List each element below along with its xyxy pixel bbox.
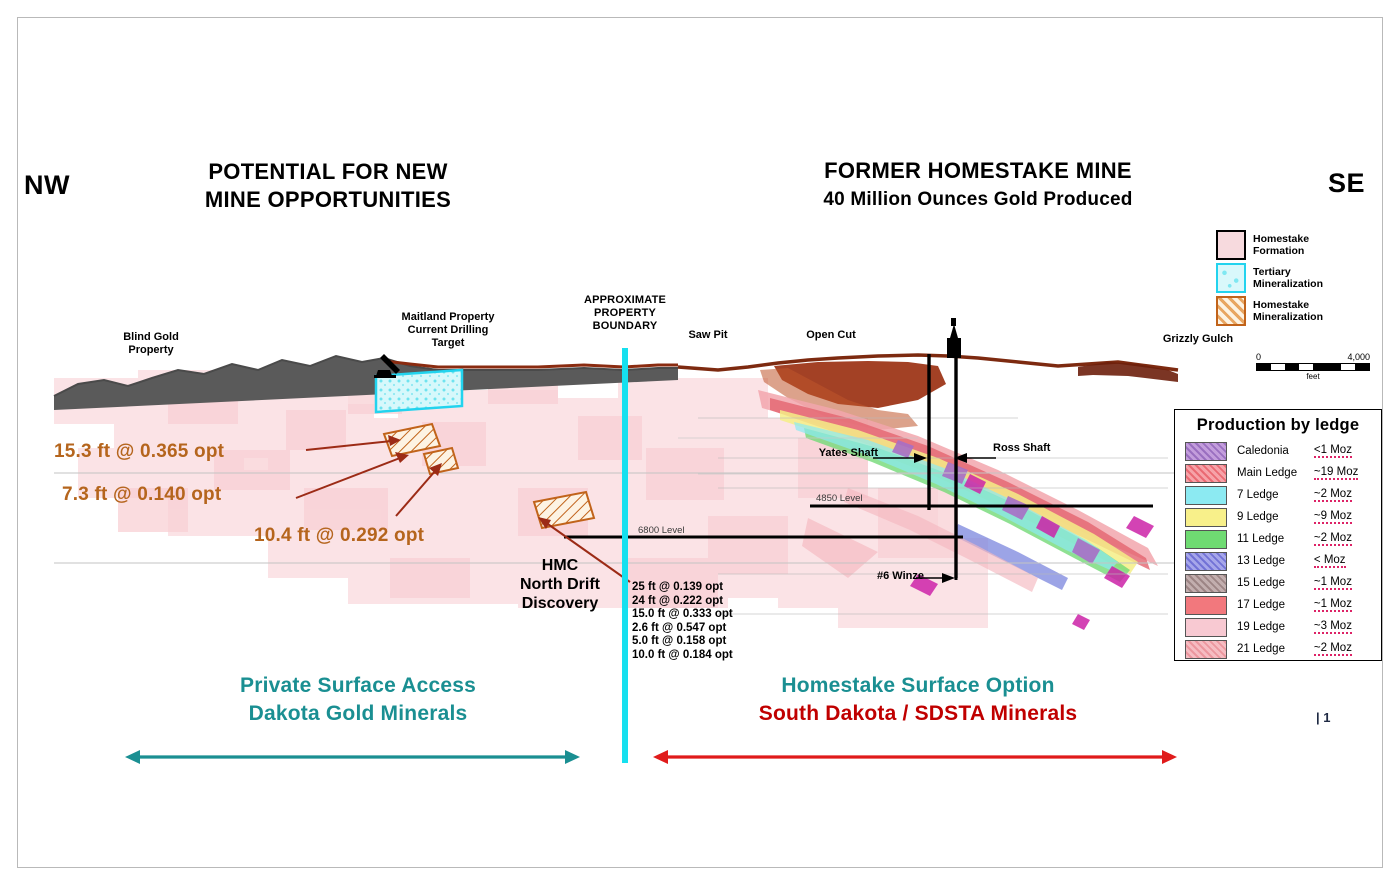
banner-right-line2: South Dakota / SDSTA Minerals — [638, 702, 1198, 726]
formation-legend-label: Homestake — [1253, 233, 1309, 245]
production-ledge-amount: ~2 Moz — [1314, 642, 1352, 656]
label-6800-level: 6800 Level — [638, 525, 684, 536]
production-ledge-amount: ~9 Moz — [1314, 510, 1352, 524]
label-ross-shaft: Ross Shaft — [993, 442, 1093, 455]
production-row: 15 Ledge ~1 Moz — [1175, 572, 1381, 594]
formation-legend-row: Homestake Mineralization — [1216, 296, 1323, 326]
formation-legend-label: Homestake — [1253, 299, 1323, 311]
label-maitland-property: Maitland Property Current Drilling Targe… — [368, 311, 528, 350]
compass-nw: NW — [24, 170, 70, 201]
production-ledge-name: 9 Ledge — [1237, 506, 1314, 528]
label-4850-level: 4850 Level — [816, 493, 862, 504]
formation-legend-label: Tertiary — [1253, 266, 1323, 278]
banner-left-line1: Private Surface Access — [128, 674, 588, 698]
swatch-homestake-mineralization — [1216, 296, 1246, 326]
heading-left-line1: POTENTIAL FOR NEW — [158, 158, 498, 186]
production-swatch — [1185, 486, 1227, 505]
sdsta-minerals-arrow — [653, 750, 1177, 764]
production-ledge-name: 13 Ledge — [1237, 550, 1314, 572]
label-saw-pit: Saw Pit — [663, 329, 753, 342]
slide-canvas: NW SE POTENTIAL FOR NEW MINE OPPORTUNITI… — [0, 0, 1400, 885]
production-swatch — [1185, 618, 1227, 637]
production-ledge-amount: ~2 Moz — [1314, 488, 1352, 502]
hmc-line2: North Drift — [492, 575, 628, 594]
production-row: 11 Ledge ~2 Moz — [1175, 528, 1381, 550]
blind-gold-line1: Blind Gold — [96, 331, 206, 344]
grizzly-gulch-band — [1078, 362, 1178, 382]
hmc-line3: Discovery — [492, 594, 628, 613]
production-ledge-amount: ~3 Moz — [1314, 620, 1352, 634]
hmc-discovery-label: HMC North Drift Discovery — [492, 556, 628, 613]
page-number: | 1 — [1316, 710, 1330, 725]
blind-gold-line2: Property — [96, 344, 206, 357]
production-ledge-amount: < Moz — [1314, 554, 1346, 568]
banner-private-surface-access: Private Surface Access Dakota Gold Miner… — [128, 674, 588, 726]
production-row: Main Ledge ~19 Moz — [1175, 462, 1381, 484]
production-legend-title: Production by ledge — [1175, 410, 1381, 440]
scale-unit-label: feet — [1256, 372, 1370, 381]
scale-bar: 0 4,000 feet — [1256, 352, 1370, 381]
hmc-results-list: 25 ft @ 0.139 opt 24 ft @ 0.222 opt 15.0… — [632, 581, 733, 663]
label-yates-shaft: Yates Shaft — [788, 447, 878, 460]
production-by-ledge-legend: Production by ledge Caledonia <1 Moz Mai… — [1174, 409, 1382, 661]
label-6-winze: #6 Winze — [844, 570, 924, 583]
production-ledge-amount: ~2 Moz — [1314, 532, 1352, 546]
production-row: 17 Ledge ~1 Moz — [1175, 594, 1381, 616]
heading-left-line2: MINE OPPORTUNITIES — [158, 186, 498, 214]
production-ledge-name: 7 Ledge — [1237, 484, 1314, 506]
label-approximate-property-boundary: APPROXIMATE PROPERTY BOUNDARY — [555, 294, 695, 333]
production-swatch — [1185, 640, 1227, 659]
mineralization-block-2 — [424, 448, 458, 474]
production-ledge-amount: ~1 Moz — [1314, 576, 1352, 590]
heading-right: FORMER HOMESTAKE MINE 40 Million Ounces … — [758, 158, 1198, 211]
production-swatch — [1185, 552, 1227, 571]
production-swatch — [1185, 596, 1227, 615]
production-row: 13 Ledge < Moz — [1175, 550, 1381, 572]
heading-right-line1: FORMER HOMESTAKE MINE — [758, 158, 1198, 184]
hmc-result: 10.0 ft @ 0.184 opt — [632, 649, 733, 663]
production-table: Caledonia <1 Moz Main Ledge ~19 Moz 7 Le… — [1175, 440, 1381, 660]
maitland-line2: Current Drilling — [368, 324, 528, 337]
banner-left-line2: Dakota Gold Minerals — [128, 702, 588, 726]
swatch-tertiary-mineralization — [1216, 263, 1246, 293]
production-swatch — [1185, 530, 1227, 549]
production-row: 7 Ledge ~2 Moz — [1175, 484, 1381, 506]
production-ledge-name: Caledonia — [1237, 440, 1314, 462]
hmc-line1: HMC — [492, 556, 628, 575]
formation-legend-label: Mineralization — [1253, 278, 1323, 290]
hmc-result: 5.0 ft @ 0.158 opt — [632, 635, 733, 649]
label-grizzly-gulch: Grizzly Gulch — [1128, 333, 1268, 346]
intercept-callout-2: 7.3 ft @ 0.140 opt — [62, 484, 221, 506]
intercept-callout-3: 10.4 ft @ 0.292 opt — [254, 525, 424, 547]
production-ledge-name: 19 Ledge — [1237, 616, 1314, 638]
production-ledge-name: 15 Ledge — [1237, 572, 1314, 594]
headframe-icon — [947, 318, 961, 358]
hmc-result: 15.0 ft @ 0.333 opt — [632, 608, 733, 622]
production-ledge-amount: <1 Moz — [1314, 444, 1352, 458]
production-swatch — [1185, 442, 1227, 461]
formation-legend-row: Tertiary Mineralization — [1216, 263, 1323, 293]
production-ledge-amount: ~1 Moz — [1314, 598, 1352, 612]
hmc-result: 2.6 ft @ 0.547 opt — [632, 622, 733, 636]
production-row: Caledonia <1 Moz — [1175, 440, 1381, 462]
private-access-arrow — [125, 750, 580, 764]
heading-right-line2: 40 Million Ounces Gold Produced — [758, 189, 1198, 211]
scale-min-label: 0 — [1256, 352, 1261, 362]
scale-max-label: 4,000 — [1347, 352, 1370, 362]
production-ledge-name: 11 Ledge — [1237, 528, 1314, 550]
label-open-cut: Open Cut — [776, 329, 886, 342]
maitland-line1: Maitland Property — [368, 311, 528, 324]
slide-frame: NW SE POTENTIAL FOR NEW MINE OPPORTUNITI… — [17, 17, 1383, 868]
scale-bar-graphic — [1256, 363, 1370, 371]
production-swatch — [1185, 464, 1227, 483]
banner-right-line1: Homestake Surface Option — [638, 674, 1198, 698]
swatch-homestake-formation — [1216, 230, 1246, 260]
formation-legend: Homestake Formation Tertiary Mineralizat… — [1216, 230, 1323, 329]
hmc-result: 25 ft @ 0.139 opt — [632, 581, 733, 595]
formation-legend-row: Homestake Formation — [1216, 230, 1323, 260]
production-row: 21 Ledge ~2 Moz — [1175, 638, 1381, 660]
production-ledge-name: 17 Ledge — [1237, 594, 1314, 616]
production-ledge-name: Main Ledge — [1237, 462, 1314, 484]
production-row: 9 Ledge ~9 Moz — [1175, 506, 1381, 528]
production-ledge-amount: ~19 Moz — [1314, 466, 1358, 480]
boundary-line1: APPROXIMATE — [555, 294, 695, 307]
banner-homestake-surface-option: Homestake Surface Option South Dakota / … — [638, 674, 1198, 726]
formation-legend-label: Formation — [1253, 245, 1309, 257]
hmc-result: 24 ft @ 0.222 opt — [632, 595, 733, 609]
production-ledge-name: 21 Ledge — [1237, 638, 1314, 660]
production-row: 19 Ledge ~3 Moz — [1175, 616, 1381, 638]
maitland-line3: Target — [368, 337, 528, 350]
production-swatch — [1185, 574, 1227, 593]
label-blind-gold-property: Blind Gold Property — [96, 331, 206, 357]
boundary-line2: PROPERTY — [555, 307, 695, 320]
heading-left: POTENTIAL FOR NEW MINE OPPORTUNITIES — [158, 158, 498, 214]
formation-legend-label: Mineralization — [1253, 311, 1323, 323]
intercept-callout-1: 15.3 ft @ 0.365 opt — [54, 441, 224, 463]
production-swatch — [1185, 508, 1227, 527]
compass-se: SE — [1328, 168, 1365, 199]
